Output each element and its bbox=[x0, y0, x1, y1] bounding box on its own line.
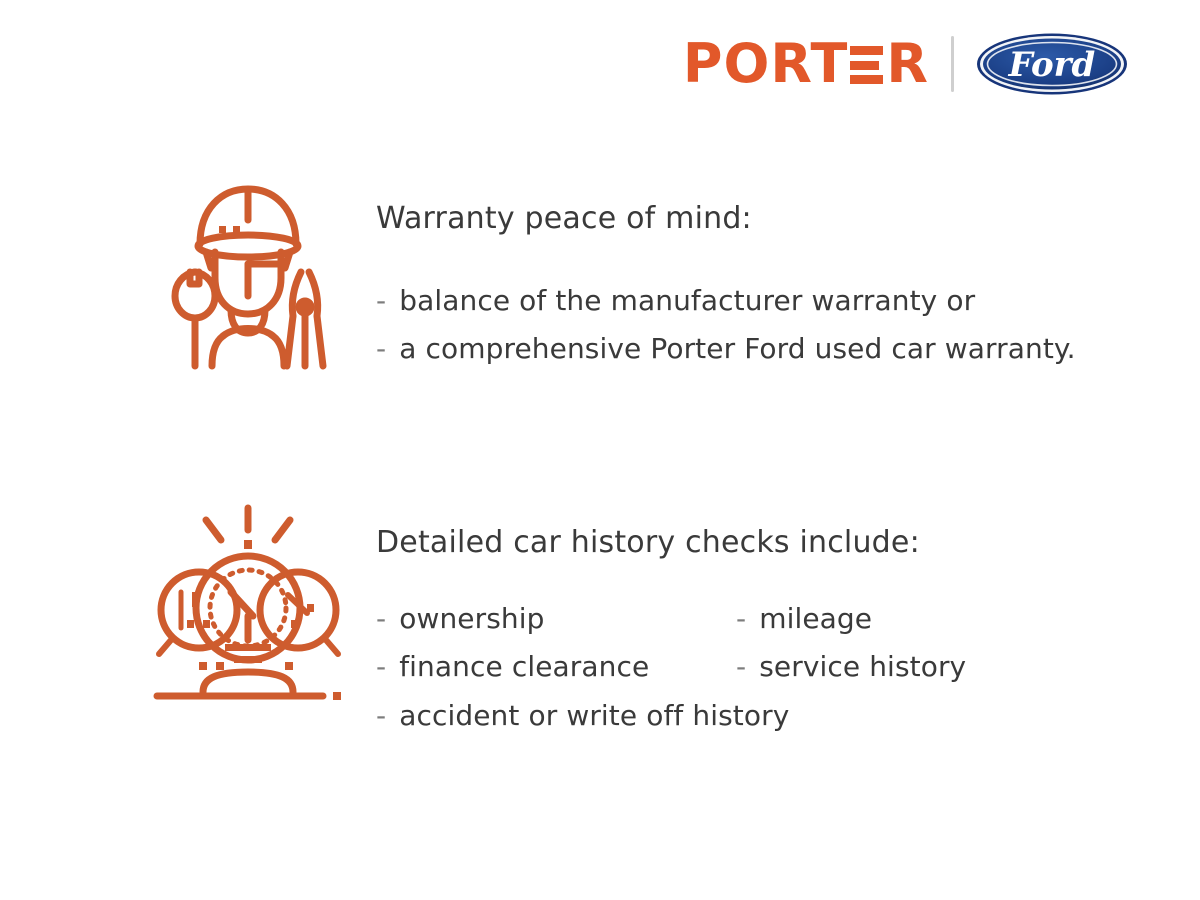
logo-divider bbox=[951, 36, 954, 92]
bullet-row: - accident or write off history bbox=[376, 697, 966, 736]
list-item: - ownership bbox=[376, 600, 736, 639]
porter-wordmark-lead: PORT bbox=[683, 37, 848, 91]
list-item: - accident or write off history bbox=[376, 697, 789, 736]
bullet-dash-icon: - bbox=[376, 648, 386, 687]
history-checks-bullet-list: - ownership - mileage - finance clearanc… bbox=[376, 600, 966, 736]
list-item-label: accident or write off history bbox=[399, 697, 789, 736]
porter-stylized-e-icon bbox=[850, 46, 883, 84]
history-checks-heading: Detailed car history checks include: bbox=[376, 524, 966, 562]
list-item: - a comprehensive Porter Ford used car w… bbox=[376, 330, 1076, 369]
warranty-content: Warranty peace of mind: - balance of the… bbox=[348, 176, 1076, 369]
warranty-section: Warranty peace of mind: - balance of the… bbox=[148, 176, 1076, 376]
bullet-dash-icon: - bbox=[376, 330, 386, 369]
list-item: - mileage bbox=[736, 600, 872, 639]
list-item: - finance clearance bbox=[376, 648, 736, 687]
porter-wordmark: PORT R bbox=[683, 37, 929, 91]
list-item-label: finance clearance bbox=[399, 648, 649, 687]
ford-oval-logo: Ford bbox=[976, 33, 1128, 95]
bullet-row: - a comprehensive Porter Ford used car w… bbox=[376, 330, 1076, 369]
bullet-dash-icon: - bbox=[376, 282, 386, 321]
brand-logo-lockup: PORT R Ford bbox=[683, 28, 1128, 100]
bullet-dash-icon: - bbox=[376, 600, 386, 639]
history-checks-section: Detailed car history checks include: - o… bbox=[148, 500, 966, 735]
ford-script-text: Ford bbox=[1008, 45, 1096, 85]
list-item-label: balance of the manufacturer warranty or bbox=[399, 282, 975, 321]
bullet-dash-icon: - bbox=[736, 648, 746, 687]
list-item-label: a comprehensive Porter Ford used car war… bbox=[399, 330, 1075, 369]
history-checks-content: Detailed car history checks include: - o… bbox=[348, 500, 966, 735]
bullet-dash-icon: - bbox=[376, 697, 386, 736]
list-item-label: mileage bbox=[759, 600, 872, 639]
dashboard-gauges-icon bbox=[148, 500, 348, 700]
list-item-label: service history bbox=[759, 648, 966, 687]
mechanic-icon bbox=[148, 176, 348, 376]
bullet-row: - balance of the manufacturer warranty o… bbox=[376, 282, 1076, 321]
warranty-bullet-list: - balance of the manufacturer warranty o… bbox=[376, 282, 1076, 369]
porter-wordmark-tail: R bbox=[886, 37, 929, 91]
bullet-row: - ownership - mileage bbox=[376, 600, 966, 639]
bullet-dash-icon: - bbox=[736, 600, 746, 639]
bullet-row: - finance clearance - service history bbox=[376, 648, 966, 687]
list-item: - balance of the manufacturer warranty o… bbox=[376, 282, 975, 321]
list-item-label: ownership bbox=[399, 600, 544, 639]
list-item: - service history bbox=[736, 648, 966, 687]
warranty-heading: Warranty peace of mind: bbox=[376, 200, 1076, 238]
